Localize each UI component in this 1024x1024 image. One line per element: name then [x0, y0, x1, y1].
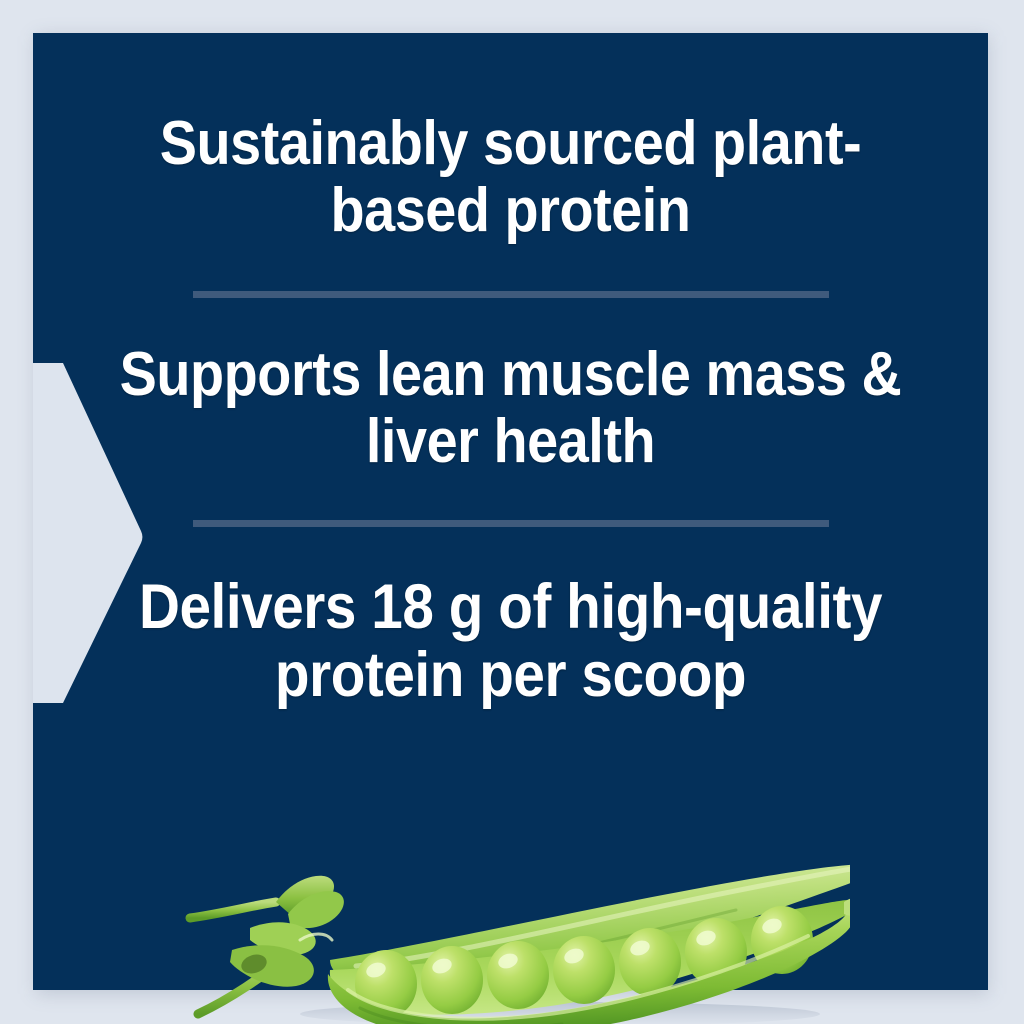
infographic-canvas: Sustainably sourced plant-based protein …	[0, 0, 1024, 1024]
feature-list: Sustainably sourced plant-based protein …	[33, 33, 988, 990]
feature-divider-2	[193, 520, 829, 527]
feature-text-protein-per-scoop: Delivers 18 g of high-quality protein pe…	[81, 573, 941, 709]
feature-text-lean-muscle-liver: Supports lean muscle mass & liver health	[81, 342, 941, 476]
feature-divider-1	[193, 291, 829, 298]
feature-text-sustainably-sourced: Sustainably sourced plant-based protein	[81, 111, 941, 245]
